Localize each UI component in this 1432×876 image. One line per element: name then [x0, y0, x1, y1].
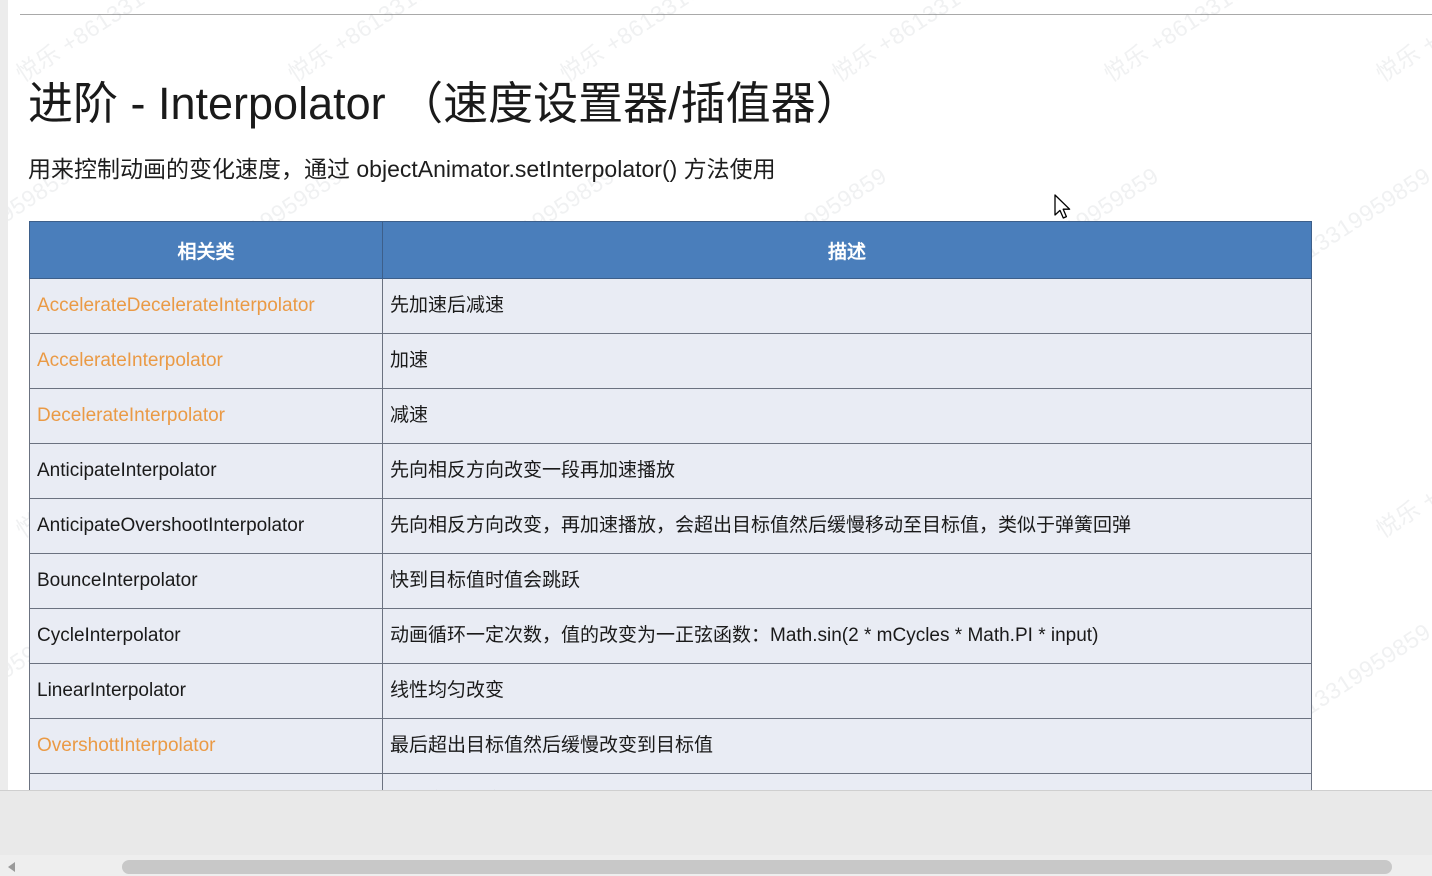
cell-description: 先向相反方向改变，再加速播放，会超出目标值然后缓慢移动至目标值，类似于弹簧回弹: [383, 499, 1312, 554]
table-row: AccelerateInterpolator加速: [30, 334, 1312, 389]
cell-class-name: AnticipateOvershootInterpolator: [30, 499, 383, 554]
page-title: 进阶 - Interpolator （速度设置器/插值器）: [28, 74, 861, 134]
table-header-row: 相关类 描述: [30, 222, 1312, 279]
cell-class-name: CycleInterpolator: [30, 609, 383, 664]
interpolator-table-container: 相关类 描述 AccelerateDecelerateInterpolator先…: [29, 221, 1311, 790]
table-header: 相关类 描述: [30, 222, 1312, 279]
cell-class-name: TimeInterpolator: [30, 774, 383, 791]
cell-description: 动画循环一定次数，值的改变为一正弦函数：Math.sin(2 * mCycles…: [383, 609, 1312, 664]
top-divider-rule: [20, 14, 1432, 15]
cell-description: 快到目标值时值会跳跃: [383, 554, 1312, 609]
cell-description: 先向相反方向改变一段再加速播放: [383, 444, 1312, 499]
column-header-class: 相关类: [30, 222, 383, 279]
cell-class-name: DecelerateInterpolator: [30, 389, 383, 444]
table-row: AccelerateDecelerateInterpolator先加速后减速: [30, 279, 1312, 334]
watermark-text: 悦乐 +8613319959859: [1368, 385, 1432, 545]
cell-class-name: OvershottInterpolator: [30, 719, 383, 774]
table-row: OvershottInterpolator最后超出目标值然后缓慢改变到目标值: [30, 719, 1312, 774]
table-row: AnticipateInterpolator先向相反方向改变一段再加速播放: [30, 444, 1312, 499]
triangle-left-icon[interactable]: [8, 862, 15, 872]
table-row: TimeInterpolator一个允许自定义 Interpolator 的接口: [30, 774, 1312, 791]
page-subtitle: 用来控制动画的变化速度，通过 objectAnimator.setInterpo…: [28, 152, 776, 186]
horizontal-scrollbar[interactable]: [0, 855, 1432, 876]
table-row: DecelerateInterpolator减速: [30, 389, 1312, 444]
app-viewport: 进阶 - Interpolator （速度设置器/插值器） 用来控制动画的变化速…: [0, 0, 1432, 876]
cell-description: 先加速后减速: [383, 279, 1312, 334]
table-row: LinearInterpolator线性均匀改变: [30, 664, 1312, 719]
cell-description: 一个允许自定义 Interpolator 的接口: [383, 774, 1312, 791]
table-row: AnticipateOvershootInterpolator先向相反方向改变，…: [30, 499, 1312, 554]
table-body: AccelerateDecelerateInterpolator先加速后减速Ac…: [30, 279, 1312, 791]
interpolator-table: 相关类 描述 AccelerateDecelerateInterpolator先…: [29, 221, 1312, 790]
cell-class-name: BounceInterpolator: [30, 554, 383, 609]
cell-class-name: LinearInterpolator: [30, 664, 383, 719]
cell-class-name: AccelerateDecelerateInterpolator: [30, 279, 383, 334]
table-row: BounceInterpolator快到目标值时值会跳跃: [30, 554, 1312, 609]
table-row: CycleInterpolator动画循环一定次数，值的改变为一正弦函数：Mat…: [30, 609, 1312, 664]
scrollbar-thumb[interactable]: [122, 860, 1392, 874]
column-header-description: 描述: [383, 222, 1312, 279]
cell-class-name: AnticipateInterpolator: [30, 444, 383, 499]
cell-description: 减速: [383, 389, 1312, 444]
document-page: 进阶 - Interpolator （速度设置器/插值器） 用来控制动画的变化速…: [8, 0, 1432, 790]
cell-description: 最后超出目标值然后缓慢改变到目标值: [383, 719, 1312, 774]
cell-description: 加速: [383, 334, 1312, 389]
cell-class-name: AccelerateInterpolator: [30, 334, 383, 389]
cell-description: 线性均匀改变: [383, 664, 1312, 719]
app-background-strip: [0, 790, 1432, 876]
